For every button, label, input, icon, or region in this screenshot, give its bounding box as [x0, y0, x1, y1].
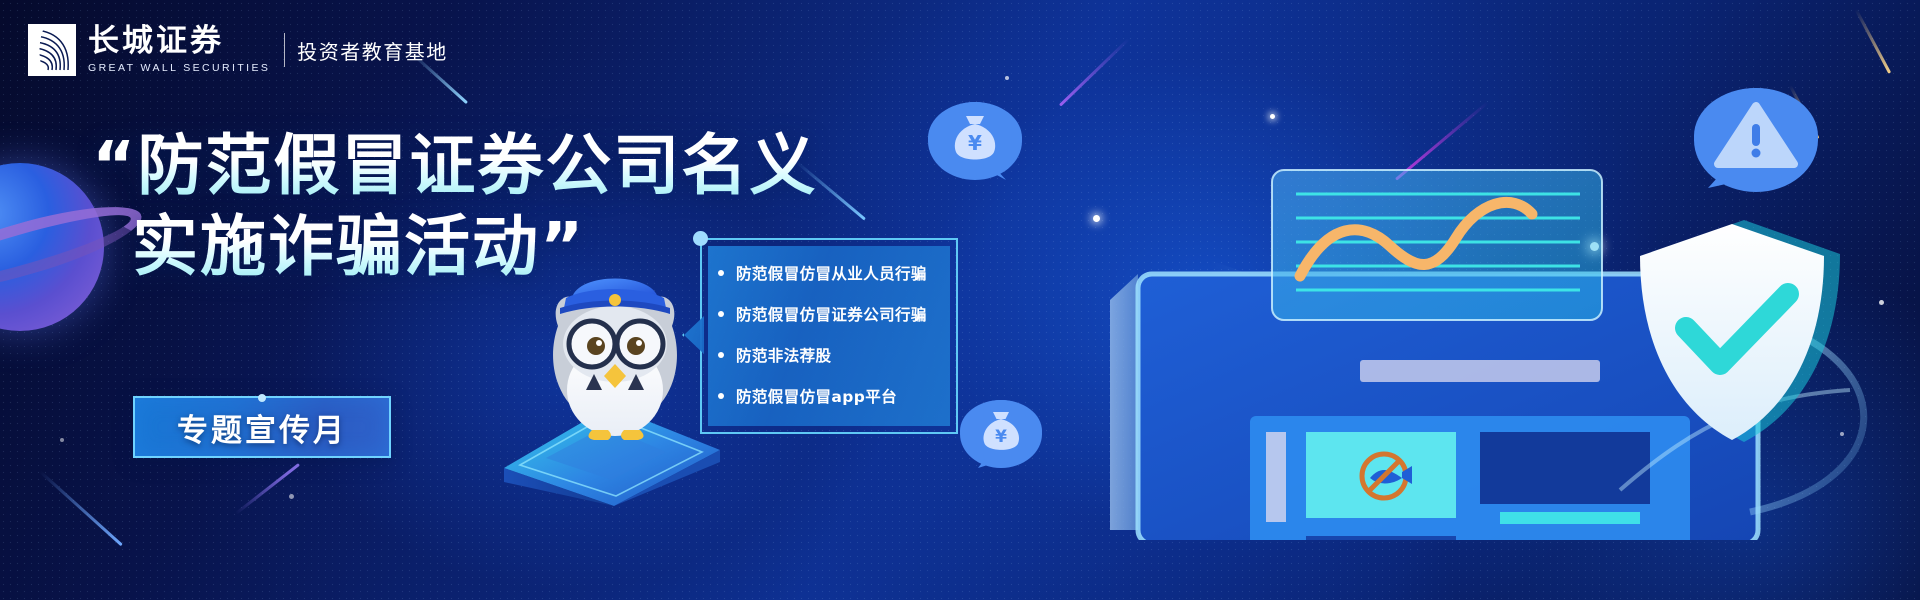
star-dot [1005, 76, 1009, 80]
list-item: 防范非法荐股 [718, 334, 948, 375]
bullet-text: 防范假冒仿冒app平台 [736, 385, 897, 407]
warning-bubble [1694, 88, 1818, 192]
bullet-text: 防范非法荐股 [736, 344, 831, 366]
bullet-text: 防范假冒仿冒证券公司行骗 [736, 303, 927, 325]
headline-line-2: 实施诈骗活动” [132, 207, 817, 288]
svg-text:¥: ¥ [968, 131, 982, 155]
logo-english-name: GREAT WALL SECURITIES [88, 62, 270, 74]
logo-chinese-name: 长城证券 [88, 26, 270, 57]
list-item: 防范假冒仿冒app平台 [718, 375, 948, 416]
logo-subtitle: 投资者教育基地 [297, 36, 448, 65]
star-dot [289, 494, 294, 499]
money-bag-bubble-small: ¥ [960, 400, 1042, 468]
owl-police-mascot [520, 258, 710, 458]
logo-text-block: 长城证券 GREAT WALL SECURITIES [88, 26, 270, 74]
bullet-dot-icon [718, 393, 724, 399]
bullet-dot-icon [718, 352, 724, 358]
logo-divider [284, 33, 285, 67]
star-dot [60, 438, 64, 442]
ringed-planet-decoration [0, 163, 104, 331]
svg-text:¥: ¥ [995, 427, 1007, 447]
cta-label: 专题宣传月 [177, 405, 347, 450]
brand-logo: 长城证券 GREAT WALL SECURITIES 投资者教育基地 [28, 24, 448, 76]
money-bag-bubble: ¥ [928, 102, 1022, 180]
cta-accent-dot [258, 394, 266, 402]
floating-line-chart-card [1272, 170, 1602, 320]
campaign-cta-button[interactable]: 专题宣传月 [133, 396, 391, 458]
bullet-dot-icon [718, 311, 724, 317]
list-item: 防范假冒仿冒证券公司行骗 [718, 293, 948, 334]
promotional-banner: 长城证券 GREAT WALL SECURITIES 投资者教育基地 “防范假冒… [0, 0, 1920, 600]
great-wall-globe-mark-icon [28, 24, 76, 76]
headline-line-1: “防范假冒证券公司名义 [92, 126, 817, 207]
